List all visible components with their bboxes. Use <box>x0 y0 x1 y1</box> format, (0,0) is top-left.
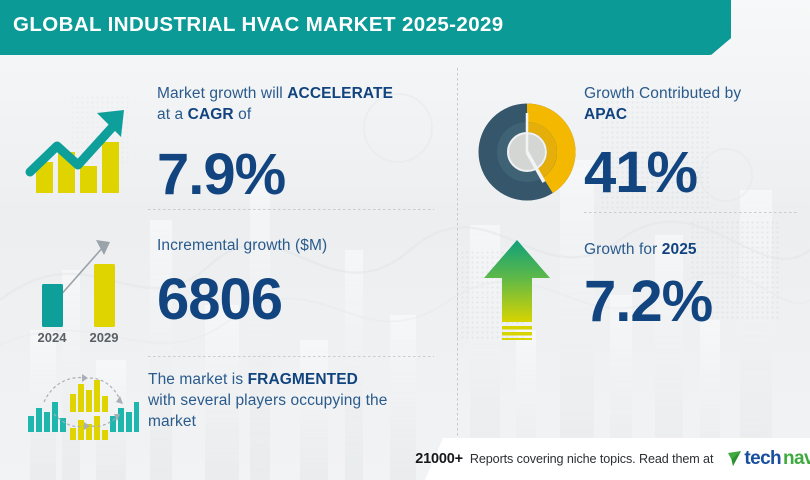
donut-chart-icon <box>478 103 576 201</box>
stat-fragmentation-label: The market is FRAGMENTED with several pl… <box>148 370 443 433</box>
bar-label-2024: 2024 <box>38 330 68 344</box>
stat-growth-2025-label: Growth for 2025 <box>584 240 804 261</box>
infographic-canvas: GLOBAL INDUSTRIAL HVAC MARKET 2025-2029 … <box>0 0 810 480</box>
page-title: GLOBAL INDUSTRIAL HVAC MARKET 2025-2029 <box>13 13 504 37</box>
report-count: 21000+ <box>415 451 463 467</box>
bar-comparison-icon: 2024 2029 <box>18 232 138 344</box>
frag-label-line2: with several players occupying the <box>148 392 387 409</box>
apac-label-line1: Growth Contributed by <box>584 85 741 102</box>
frag-label-part1: The market is <box>148 371 248 388</box>
up-arrow-icon <box>482 238 552 340</box>
divider-left-2 <box>148 356 434 357</box>
logo-text-nav: nav <box>783 448 810 470</box>
frag-label-line3: market <box>148 413 196 430</box>
bar-label-2029: 2029 <box>90 330 119 344</box>
stat-growth-2025-value: 7.2% <box>584 273 804 331</box>
divider-right-1 <box>584 212 799 213</box>
stat-incremental-value: 6806 <box>157 271 432 329</box>
footer-content: 21000+ Reports covering niche topics. Re… <box>410 438 810 480</box>
logo-text-tech: tech <box>744 448 781 470</box>
cagr-label-accelerate: ACCELERATE <box>287 85 393 102</box>
stat-apac-label: Growth Contributed by APAC <box>584 84 804 126</box>
cagr-label-cagr: CAGR <box>188 106 234 123</box>
technavio-logo[interactable]: technav <box>727 448 810 470</box>
cagr-label-part3: of <box>234 106 252 123</box>
frag-label-fragmented: FRAGMENTED <box>248 371 358 388</box>
column-divider <box>457 68 458 440</box>
stat-cagr-label: Market growth will ACCELERATE at a CAGR … <box>157 84 432 126</box>
divider-left-1 <box>148 209 434 210</box>
apac-label-region: APAC <box>584 106 627 123</box>
growth-chart-icon <box>20 96 138 201</box>
growth2025-label-year: 2025 <box>662 241 697 258</box>
fragmented-market-icon <box>18 372 140 444</box>
stat-cagr-value: 7.9% <box>157 146 432 204</box>
stat-growth-2025: Growth for 2025 7.2% <box>584 240 804 331</box>
growth2025-label-pre: Growth for <box>584 241 662 258</box>
stat-apac: Growth Contributed by APAC 41% <box>584 84 804 202</box>
stat-apac-value: 41% <box>584 144 804 202</box>
footer-bar: 21000+ Reports covering niche topics. Re… <box>0 438 810 480</box>
stat-cagr: Market growth will ACCELERATE at a CAGR … <box>157 84 432 204</box>
stat-incremental-label: Incremental growth ($M) <box>157 236 432 257</box>
footer-tagline: Reports covering niche topics. Read them… <box>470 452 714 466</box>
stat-incremental-growth: Incremental growth ($M) 6806 <box>157 236 432 329</box>
cagr-label-part1: Market growth will <box>157 85 287 102</box>
stat-fragmentation: The market is FRAGMENTED with several pl… <box>148 370 443 433</box>
cagr-label-part2: at a <box>157 106 188 123</box>
technavio-arrow-icon <box>727 450 742 468</box>
